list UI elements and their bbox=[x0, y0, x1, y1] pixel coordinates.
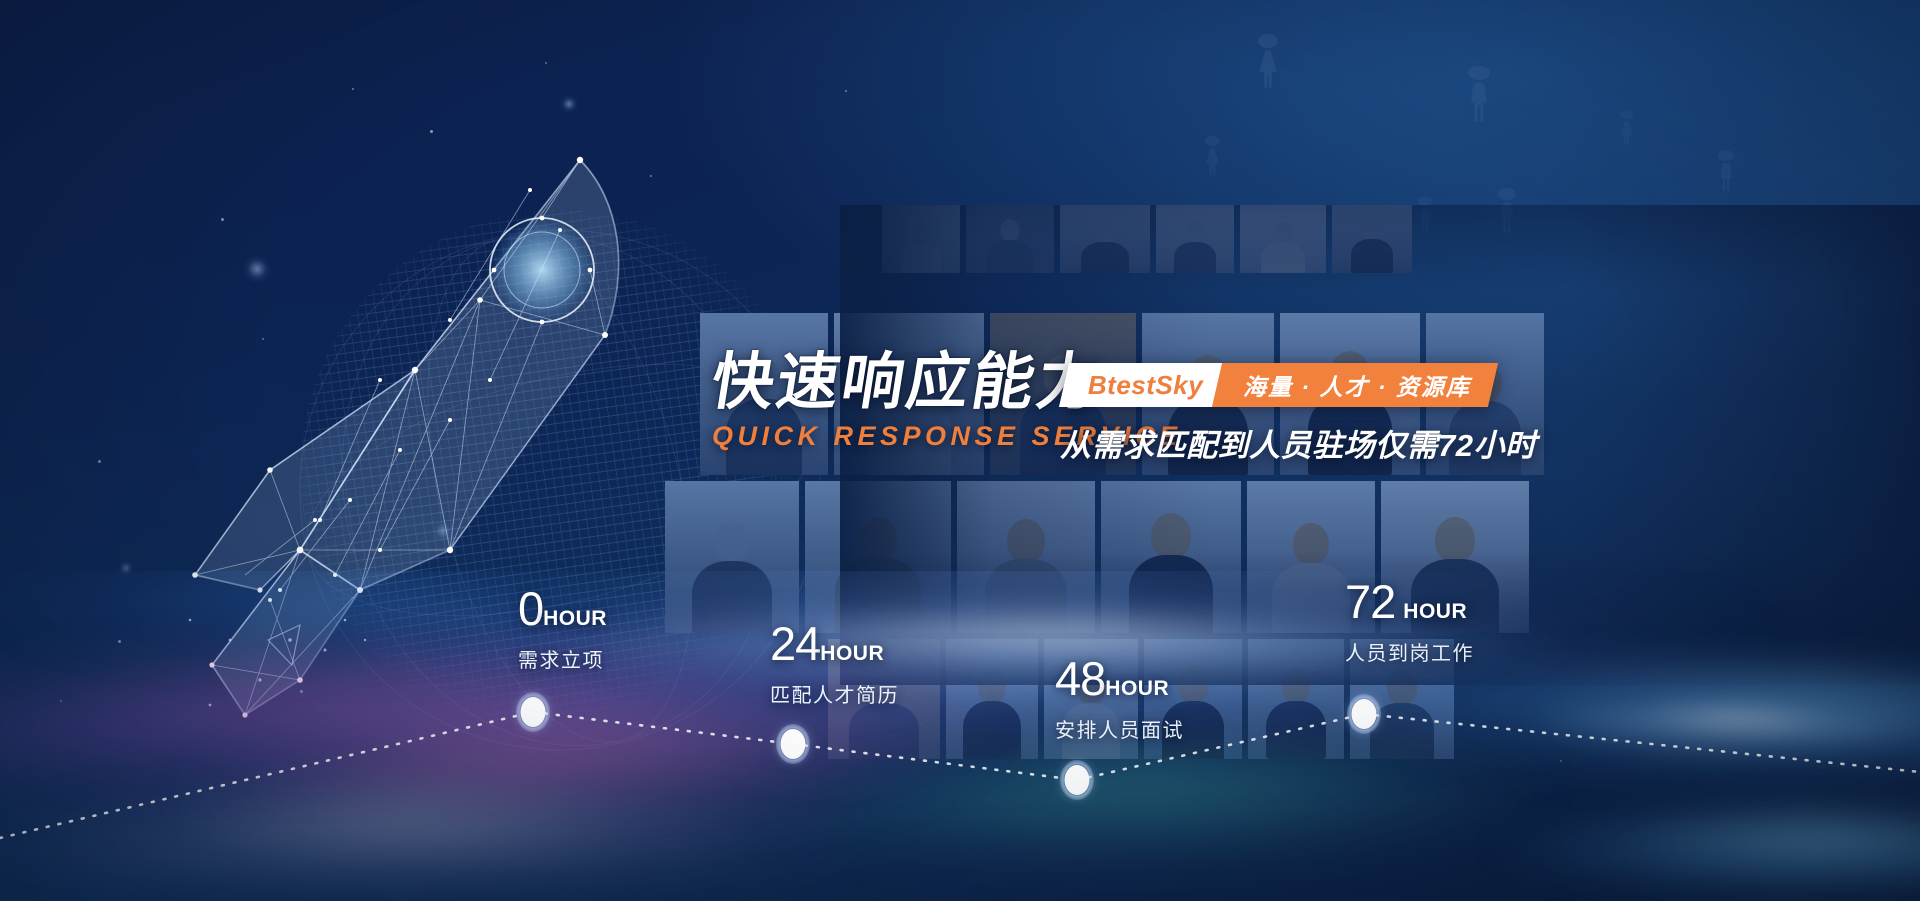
vignette-overlay bbox=[0, 0, 1920, 901]
hero-banner: 0 HOUR 需求立项 24 HOUR 匹配人才简历 48 HOUR 安排人员面… bbox=[0, 0, 1920, 901]
